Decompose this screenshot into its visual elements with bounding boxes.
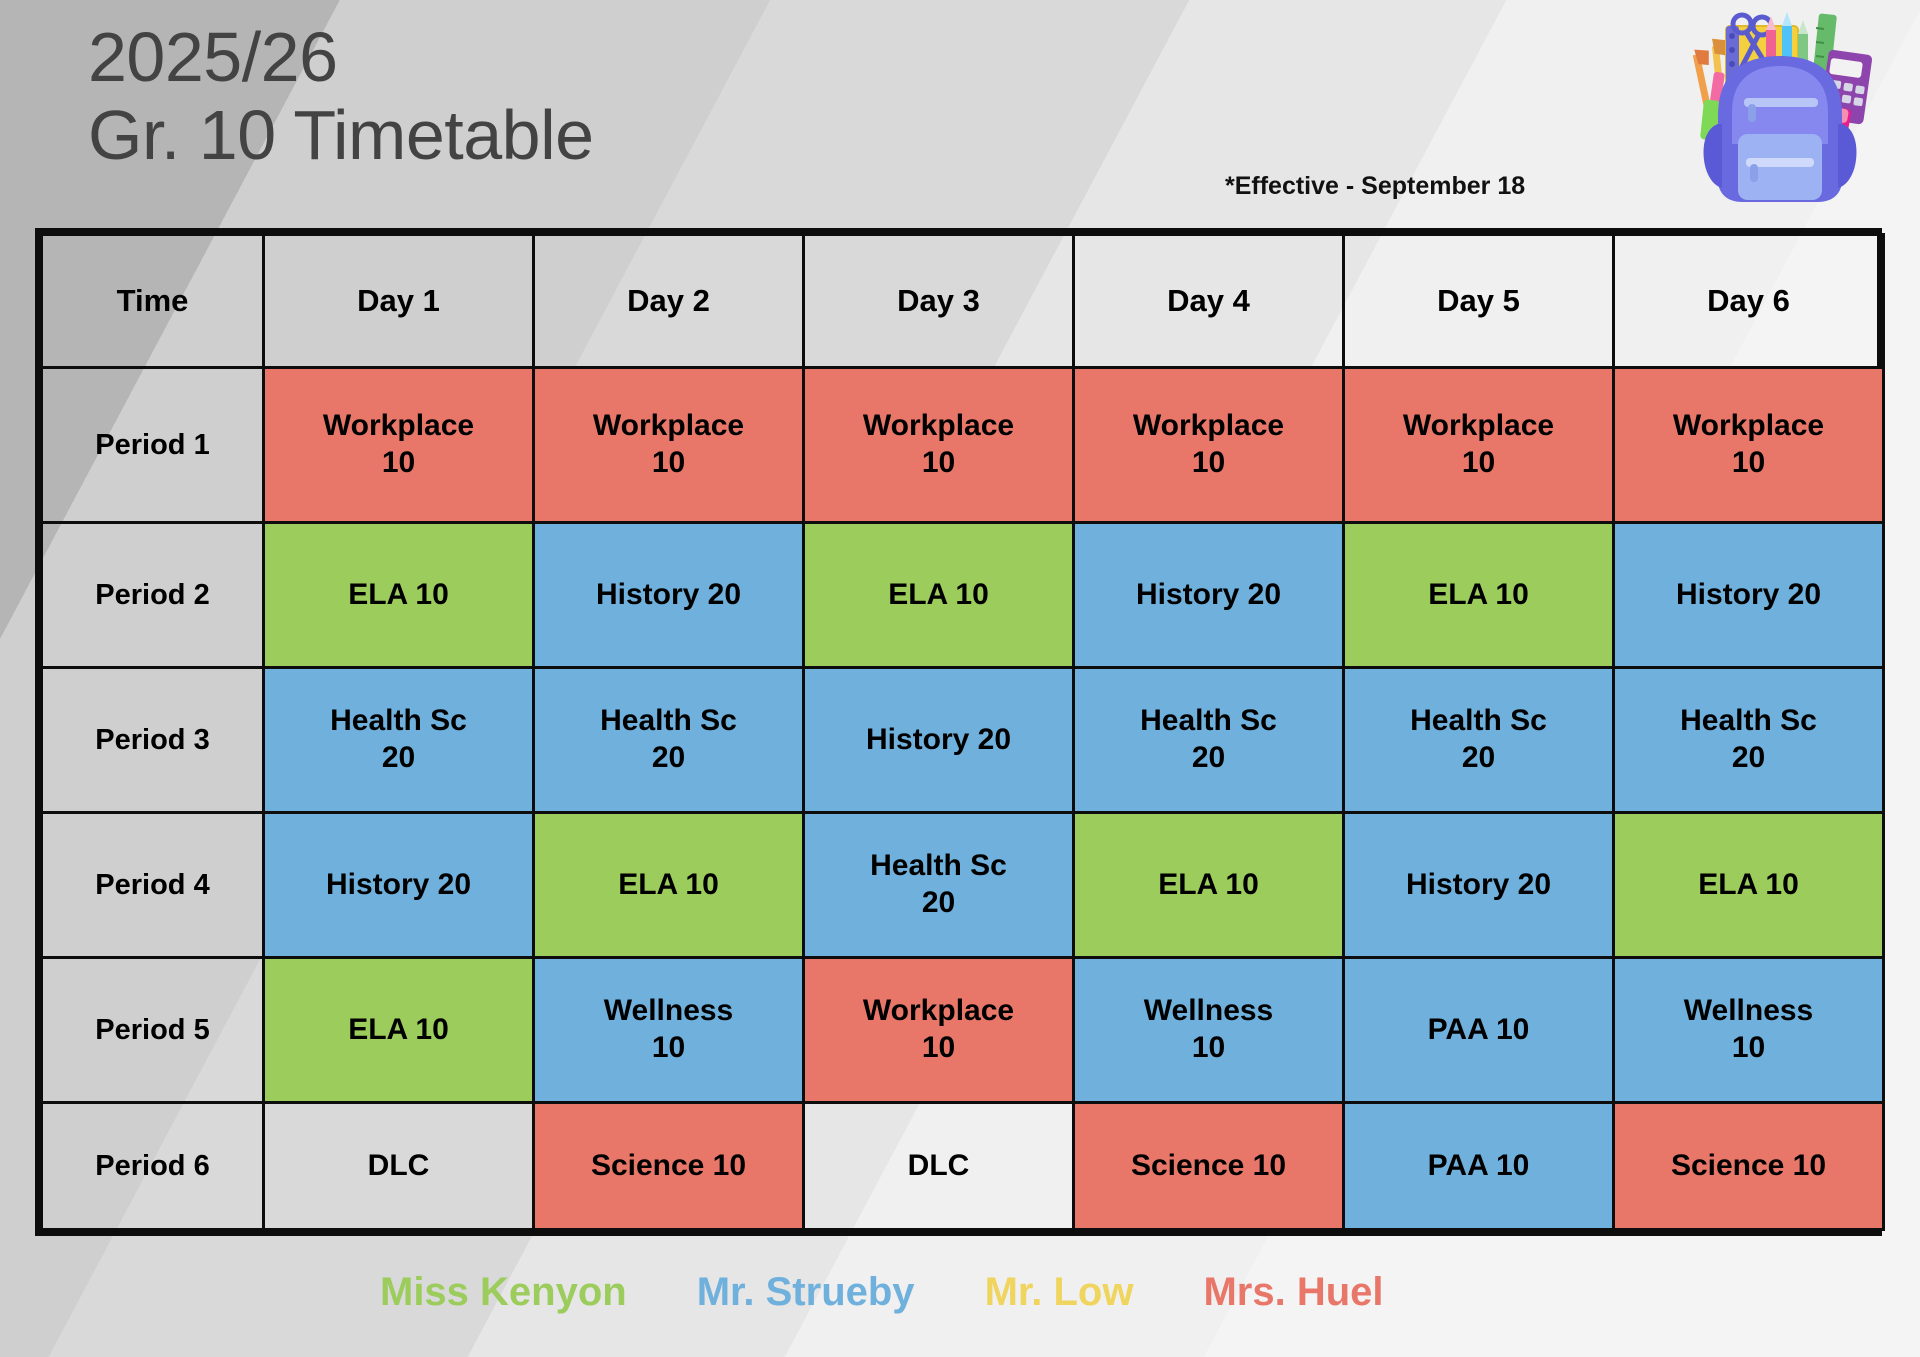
class-cell[interactable]: Workplace10 bbox=[264, 368, 534, 523]
class-name-line1: History 20 bbox=[1075, 577, 1342, 614]
column-header-day-6: Day 6 bbox=[1614, 235, 1884, 368]
class-name-line2: 10 bbox=[1075, 1030, 1342, 1067]
header-row: Time Day 1 Day 2 Day 3 Day 4 Day 5 Day 6 bbox=[42, 235, 1884, 368]
row-header-period-3: Period 3 bbox=[42, 668, 264, 813]
class-cell[interactable]: Wellness10 bbox=[1074, 958, 1344, 1103]
class-name-line1: History 20 bbox=[805, 722, 1072, 759]
class-name-line2: 10 bbox=[805, 1030, 1072, 1067]
table-row: Period 3 Health Sc20 Health Sc20 History… bbox=[42, 668, 1884, 813]
class-name-line1: Wellness bbox=[1615, 993, 1882, 1030]
legend-item-strueby: Mr. Strueby bbox=[697, 1270, 915, 1315]
class-cell[interactable]: Workplace10 bbox=[804, 958, 1074, 1103]
class-cell[interactable]: ELA 10 bbox=[1344, 523, 1614, 668]
class-name-line1: Health Sc bbox=[265, 703, 532, 740]
class-name-line2: 20 bbox=[535, 740, 802, 777]
class-name-line2: 20 bbox=[1075, 740, 1342, 777]
column-header-day-5: Day 5 bbox=[1344, 235, 1614, 368]
column-header-time: Time bbox=[42, 235, 264, 368]
class-name-line1: PAA 10 bbox=[1345, 1012, 1612, 1049]
column-header-day-1: Day 1 bbox=[264, 235, 534, 368]
effective-date-note: *Effective - September 18 bbox=[1225, 172, 1525, 201]
class-cell[interactable]: History 20 bbox=[1074, 523, 1344, 668]
table-row: Period 4 History 20 ELA 10 Health Sc20 E… bbox=[42, 813, 1884, 958]
class-cell[interactable]: Wellness10 bbox=[534, 958, 804, 1103]
column-header-day-2: Day 2 bbox=[534, 235, 804, 368]
class-name-line1: Health Sc bbox=[805, 848, 1072, 885]
class-name-line2: 20 bbox=[1345, 740, 1612, 777]
class-cell[interactable]: ELA 10 bbox=[264, 523, 534, 668]
class-cell[interactable]: History 20 bbox=[804, 668, 1074, 813]
class-name-line1: ELA 10 bbox=[265, 577, 532, 614]
class-name-line1: History 20 bbox=[1615, 577, 1882, 614]
class-name-line2: 10 bbox=[535, 1030, 802, 1067]
row-header-period-6: Period 6 bbox=[42, 1103, 264, 1230]
class-name-line1: Science 10 bbox=[1615, 1148, 1882, 1185]
class-name-line2: 10 bbox=[1075, 445, 1342, 482]
table-row: Period 1 Workplace10 Workplace10 Workpla… bbox=[42, 368, 1884, 523]
poster-header: 2025/26 Gr. 10 Timetable *Effective - Se… bbox=[0, 0, 1920, 225]
class-cell[interactable]: Health Sc20 bbox=[264, 668, 534, 813]
row-header-period-1: Period 1 bbox=[42, 368, 264, 523]
class-cell[interactable]: History 20 bbox=[534, 523, 804, 668]
class-name-line1: Workplace bbox=[1075, 408, 1342, 445]
class-name-line1: ELA 10 bbox=[1075, 867, 1342, 904]
class-name-line1: PAA 10 bbox=[1345, 1148, 1612, 1185]
class-name-line1: ELA 10 bbox=[265, 1012, 532, 1049]
class-name-line1: Workplace bbox=[1345, 408, 1612, 445]
class-cell[interactable]: PAA 10 bbox=[1344, 958, 1614, 1103]
row-header-period-5: Period 5 bbox=[42, 958, 264, 1103]
class-name-line1: History 20 bbox=[535, 577, 802, 614]
class-cell[interactable]: Health Sc20 bbox=[1614, 668, 1884, 813]
class-cell[interactable]: Health Sc20 bbox=[1074, 668, 1344, 813]
class-name-line2: 20 bbox=[805, 885, 1072, 922]
class-cell[interactable]: PAA 10 bbox=[1344, 1103, 1614, 1230]
table-row: Period 5 ELA 10 Wellness10 Workplace10 W… bbox=[42, 958, 1884, 1103]
class-cell[interactable]: History 20 bbox=[264, 813, 534, 958]
class-name-line1: Health Sc bbox=[1075, 703, 1342, 740]
class-name-line2: 10 bbox=[805, 445, 1072, 482]
class-cell[interactable]: DLC bbox=[804, 1103, 1074, 1230]
class-name-line1: ELA 10 bbox=[535, 867, 802, 904]
class-name-line1: History 20 bbox=[1345, 867, 1612, 904]
class-cell[interactable]: ELA 10 bbox=[1074, 813, 1344, 958]
class-name-line1: ELA 10 bbox=[805, 577, 1072, 614]
row-header-period-2: Period 2 bbox=[42, 523, 264, 668]
class-cell[interactable]: Workplace10 bbox=[804, 368, 1074, 523]
class-name-line1: Workplace bbox=[1615, 408, 1882, 445]
table-row: Period 6 DLC Science 10 DLC Science 10 P… bbox=[42, 1103, 1884, 1230]
page-title: 2025/26 Gr. 10 Timetable bbox=[88, 18, 594, 175]
class-name-line1: DLC bbox=[805, 1148, 1072, 1185]
class-cell[interactable]: Workplace10 bbox=[1344, 368, 1614, 523]
class-name-line1: Workplace bbox=[805, 408, 1072, 445]
class-cell[interactable]: Science 10 bbox=[1614, 1103, 1884, 1230]
class-cell[interactable]: ELA 10 bbox=[534, 813, 804, 958]
class-name-line1: Health Sc bbox=[1615, 703, 1882, 740]
column-header-day-3: Day 3 bbox=[804, 235, 1074, 368]
class-name-line2: 10 bbox=[265, 445, 532, 482]
class-name-line2: 20 bbox=[1615, 740, 1882, 777]
class-cell[interactable]: Workplace10 bbox=[534, 368, 804, 523]
class-name-line1: History 20 bbox=[265, 867, 532, 904]
class-name-line2: 10 bbox=[1615, 1030, 1882, 1067]
class-name-line2: 10 bbox=[535, 445, 802, 482]
class-name-line2: 10 bbox=[1615, 445, 1882, 482]
class-name-line1: ELA 10 bbox=[1345, 577, 1612, 614]
class-name-line1: Science 10 bbox=[1075, 1148, 1342, 1185]
class-cell[interactable]: History 20 bbox=[1344, 813, 1614, 958]
class-name-line1: ELA 10 bbox=[1615, 867, 1882, 904]
class-name-line1: Science 10 bbox=[535, 1148, 802, 1185]
class-name-line1: Health Sc bbox=[535, 703, 802, 740]
class-cell[interactable]: ELA 10 bbox=[264, 958, 534, 1103]
table-header: Time Day 1 Day 2 Day 3 Day 4 Day 5 Day 6 bbox=[42, 235, 1884, 368]
teacher-legend: Miss Kenyon Mr. Strueby Mr. Low Mrs. Hue… bbox=[380, 1270, 1780, 1315]
class-name-line1: Wellness bbox=[1075, 993, 1342, 1030]
class-name-line1: Wellness bbox=[535, 993, 802, 1030]
timetable-table: Time Day 1 Day 2 Day 3 Day 4 Day 5 Day 6… bbox=[40, 233, 1885, 1231]
class-name-line1: DLC bbox=[265, 1148, 532, 1185]
table-row: Period 2 ELA 10 History 20 ELA 10 Histor… bbox=[42, 523, 1884, 668]
class-cell[interactable]: History 20 bbox=[1614, 523, 1884, 668]
timetable-grid: Time Day 1 Day 2 Day 3 Day 4 Day 5 Day 6… bbox=[35, 228, 1882, 1236]
legend-item-huel: Mrs. Huel bbox=[1203, 1270, 1383, 1315]
timetable-poster: 2025/26 Gr. 10 Timetable *Effective - Se… bbox=[0, 0, 1920, 1357]
table-body: Period 1 Workplace10 Workplace10 Workpla… bbox=[42, 368, 1884, 1230]
class-cell[interactable]: Science 10 bbox=[534, 1103, 804, 1230]
class-name-line2: 10 bbox=[1345, 445, 1612, 482]
class-name-line1: Health Sc bbox=[1345, 703, 1612, 740]
class-cell[interactable]: Health Sc20 bbox=[534, 668, 804, 813]
class-cell[interactable]: Science 10 bbox=[1074, 1103, 1344, 1230]
backpack-icon bbox=[1680, 4, 1880, 214]
class-name-line1: Workplace bbox=[535, 408, 802, 445]
class-cell[interactable]: DLC bbox=[264, 1103, 534, 1230]
row-header-period-4: Period 4 bbox=[42, 813, 264, 958]
class-name-line2: 20 bbox=[265, 740, 532, 777]
class-cell[interactable]: Health Sc20 bbox=[804, 813, 1074, 958]
class-name-line1: Workplace bbox=[265, 408, 532, 445]
class-cell[interactable]: ELA 10 bbox=[1614, 813, 1884, 958]
class-cell[interactable]: Health Sc20 bbox=[1344, 668, 1614, 813]
legend-item-low: Mr. Low bbox=[985, 1270, 1134, 1315]
class-name-line1: Workplace bbox=[805, 993, 1072, 1030]
class-cell[interactable]: ELA 10 bbox=[804, 523, 1074, 668]
class-cell[interactable]: Workplace10 bbox=[1614, 368, 1884, 523]
legend-item-kenyon: Miss Kenyon bbox=[380, 1270, 627, 1315]
class-cell[interactable]: Wellness10 bbox=[1614, 958, 1884, 1103]
class-cell[interactable]: Workplace10 bbox=[1074, 368, 1344, 523]
column-header-day-4: Day 4 bbox=[1074, 235, 1344, 368]
